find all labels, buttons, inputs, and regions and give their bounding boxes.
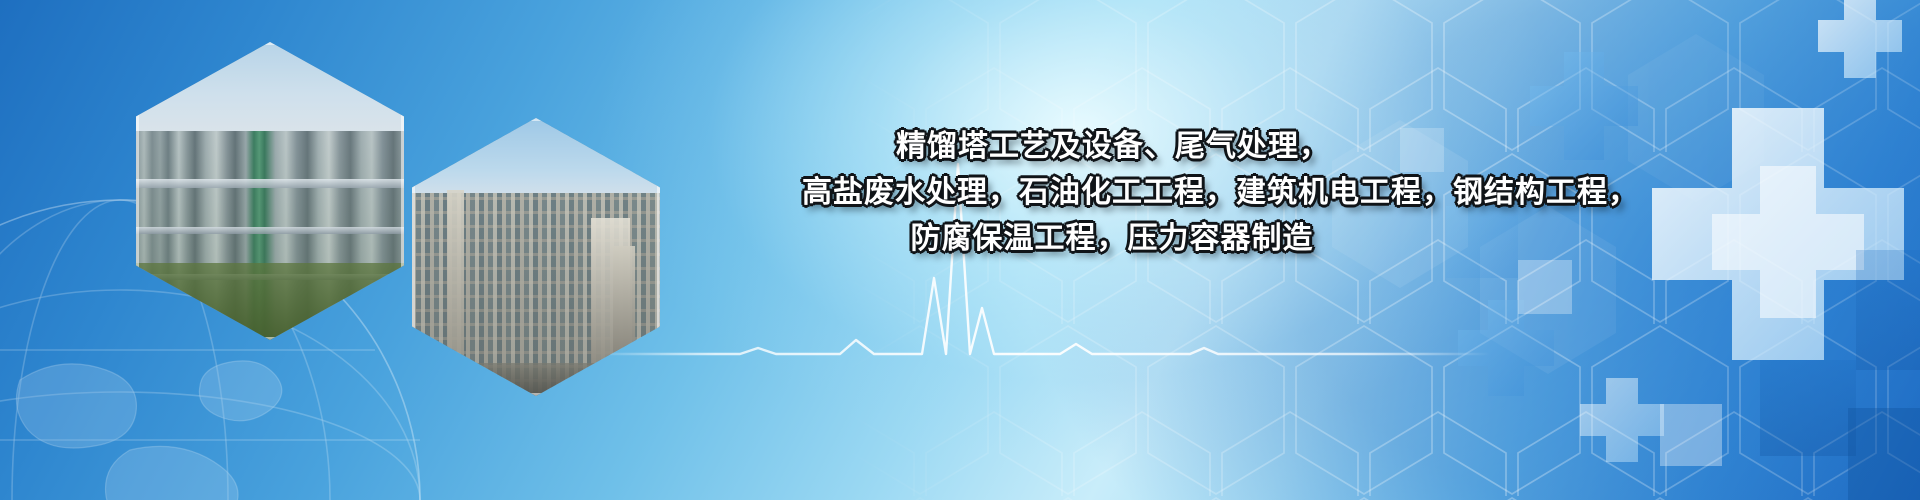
headline-line-2: 高盐废水处理，石油化工工程，建筑机电工程，钢结构工程， (802, 170, 1422, 216)
hex-photo-refinery-tower (412, 118, 660, 396)
hero-banner: 精馏塔工艺及设备、尾气处理， 高盐废水处理，石油化工工程，建筑机电工程，钢结构工… (0, 0, 1920, 500)
banner-headline: 精馏塔工艺及设备、尾气处理， 高盐废水处理，石油化工工程，建筑机电工程，钢结构工… (802, 124, 1422, 262)
headline-line-1: 精馏塔工艺及设备、尾气处理， (802, 124, 1424, 170)
hex-photo-distillation-plant (136, 42, 404, 340)
hex-photo-border (412, 118, 660, 396)
headline-line-3: 防腐保温工程，压力容器制造 (802, 216, 1422, 262)
hex-photo-border (136, 42, 404, 340)
